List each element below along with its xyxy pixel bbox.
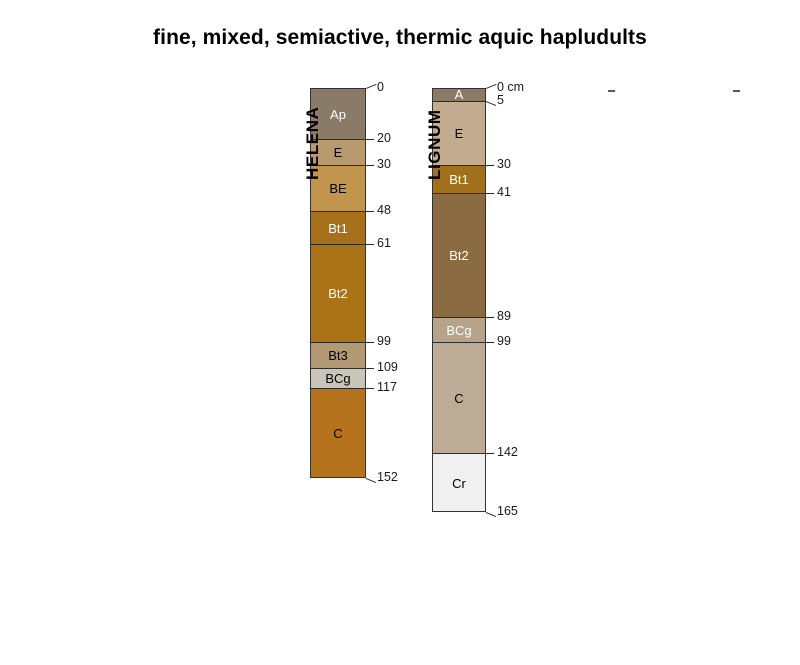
depth-tick-label: 41: [497, 186, 511, 199]
depth-tick: [486, 512, 497, 517]
depth-tick-label: 0 cm: [497, 81, 524, 94]
horizon-label: BCg: [446, 324, 471, 337]
depth-tick: [486, 101, 497, 106]
profile-lignum: AEBt1Bt2BCgCCrLIGNUM0 cm530418999142165: [0, 0, 800, 665]
stray-tick-mark-right: [733, 90, 740, 92]
horizon-label: E: [455, 127, 464, 140]
depth-tick: [486, 84, 497, 89]
depth-tick: [486, 193, 494, 194]
depth-tick-label: 89: [497, 310, 511, 323]
horizon-label: Cr: [452, 477, 466, 490]
soil-profile-figure: fine, mixed, semiactive, thermic aquic h…: [0, 0, 800, 665]
depth-tick: [486, 342, 494, 343]
depth-tick-label: 30: [497, 158, 511, 171]
horizon-c: C: [433, 343, 485, 454]
depth-tick: [486, 165, 494, 166]
depth-tick: [486, 317, 494, 318]
horizon-bt2: Bt2: [433, 194, 485, 317]
horizon-label: Bt1: [449, 173, 469, 186]
depth-tick-label: 165: [497, 505, 518, 518]
profile-name-lignum: LIGNUM: [425, 109, 445, 180]
stray-tick-mark-left: [608, 90, 615, 92]
horizon-cr: Cr: [433, 454, 485, 512]
depth-tick-label: 142: [497, 446, 518, 459]
horizon-label: Bt2: [449, 249, 469, 262]
depth-tick-label: 99: [497, 335, 511, 348]
horizon-a: A: [433, 89, 485, 102]
horizon-label: A: [455, 88, 464, 101]
depth-tick: [486, 453, 494, 454]
horizon-bcg: BCg: [433, 318, 485, 344]
horizon-label: C: [454, 392, 463, 405]
depth-tick-label: 5: [497, 94, 504, 107]
